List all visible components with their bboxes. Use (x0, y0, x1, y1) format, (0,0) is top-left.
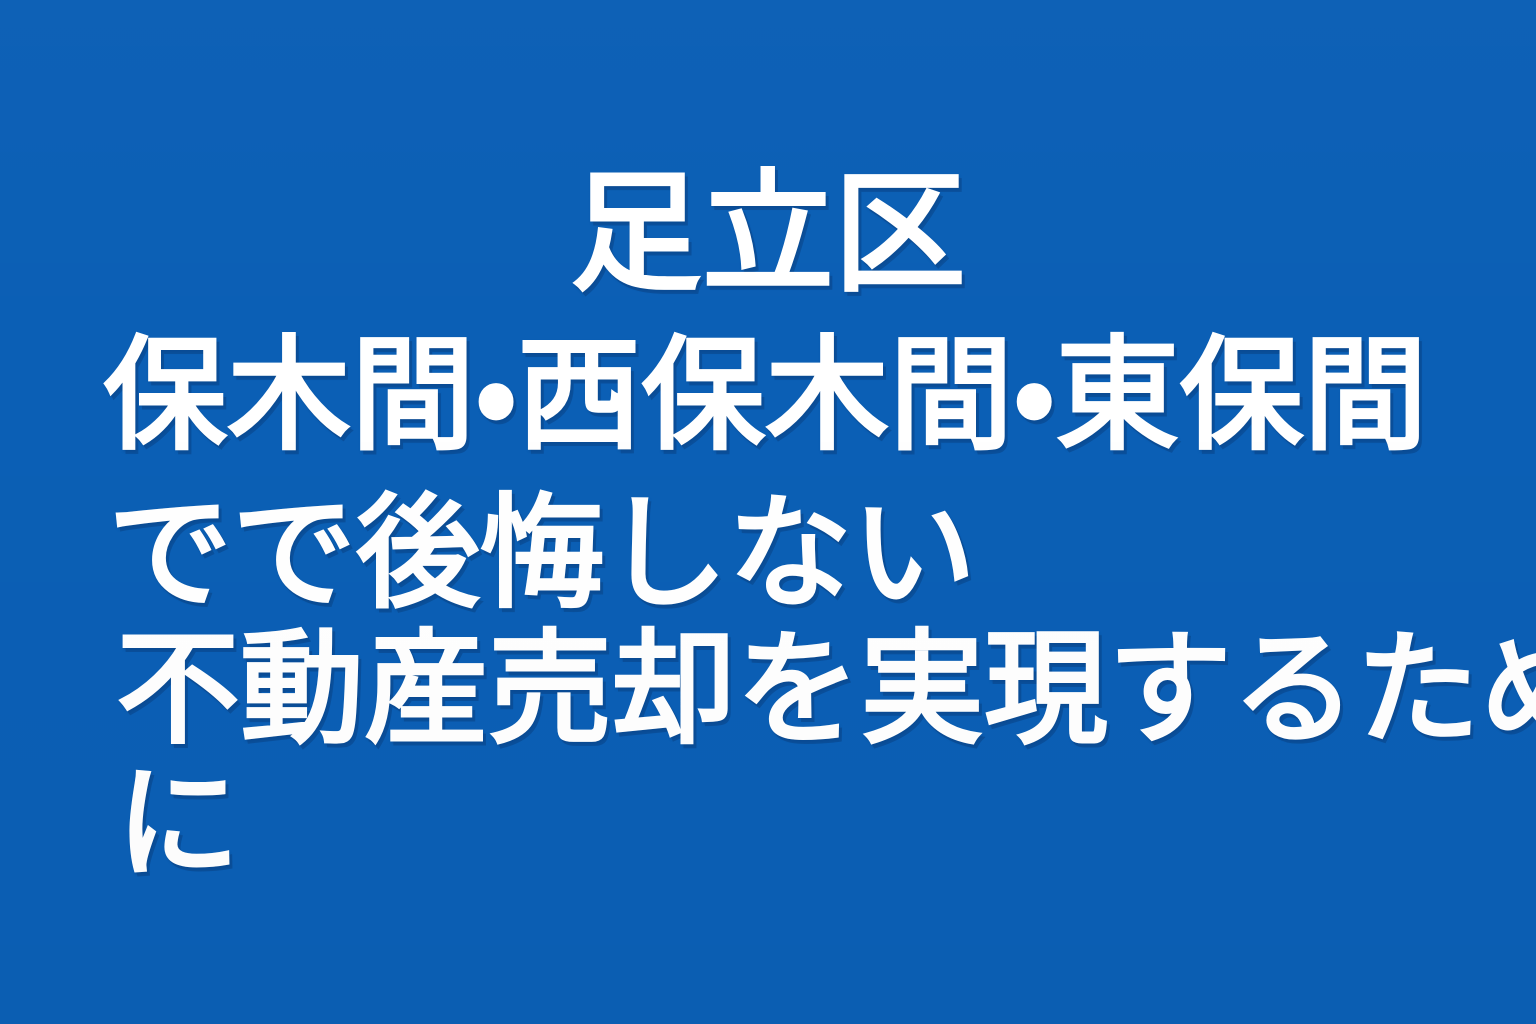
headline-line-3-phrase: でで後悔しない (108, 492, 976, 616)
headline: 足立区 保木間・西保木間・東保間 でで後悔しない 不動産売却を実現するため に (0, 0, 1536, 1024)
slide-canvas: 足立区 保木間・西保木間・東保間 でで後悔しない 不動産売却を実現するため に (0, 0, 1536, 1024)
headline-line-1-ward: 足立区 (0, 168, 1536, 300)
headline-line-4-topic: 不動産売却を実現するため (116, 628, 1536, 752)
headline-line-5-closing: に (116, 762, 240, 886)
headline-line-2-districts: 保木間・西保木間・東保間 (103, 334, 1427, 458)
